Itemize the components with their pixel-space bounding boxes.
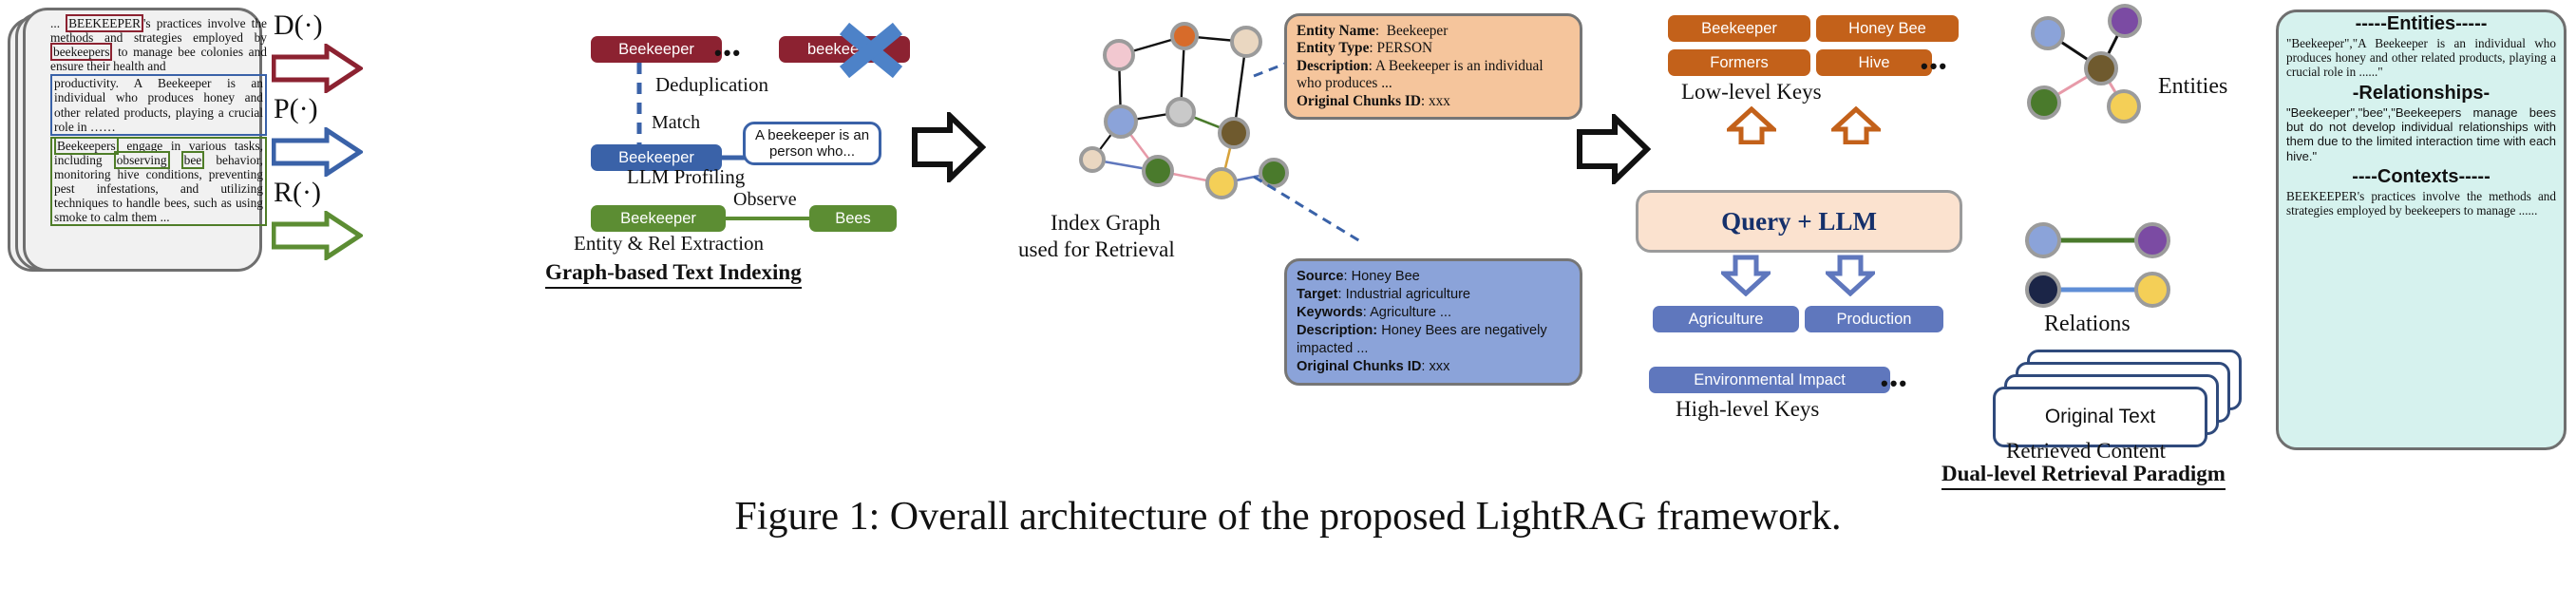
relation-card-source-key: Source: [1297, 269, 1343, 284]
relation-card-target-key: Target: [1297, 287, 1338, 302]
cross-out-icon: [836, 21, 906, 80]
relation-card-row-chunk: Original Chunks ID: xxx: [1297, 358, 1570, 376]
high-level-key-1: Production: [1805, 306, 1943, 332]
extract-relation-edge: [707, 213, 811, 224]
operator-label-profile: P(·): [274, 93, 318, 125]
relation-card-target-value: Industrial agriculture: [1346, 287, 1470, 302]
operator-label-dedup: D(·): [274, 9, 323, 42]
doc-text-seg-5: [170, 153, 181, 167]
relation-card-row-keywords: Keywords: Agriculture ...: [1297, 304, 1570, 322]
arrow-up-low-right: [1831, 106, 1881, 144]
entities-header: -----Entities-----: [2279, 13, 2564, 35]
high-level-keys-ellipsis: •••: [1881, 371, 1908, 396]
dedup-caption: Deduplication: [655, 73, 768, 97]
entity-card-name-key: Entity Name: [1297, 23, 1375, 39]
relationships-body: "Beekeeper","bee","Beekeepers manage bee…: [2279, 105, 2564, 164]
entity-card-row-name: Entity Name: Beekeeper: [1297, 23, 1570, 40]
retrieved-content-caption: Retrieved Content: [2006, 439, 2166, 464]
low-level-keys-ellipsis: •••: [1921, 54, 1948, 79]
arrow-down-high-right: [1826, 255, 1875, 296]
operator-label-extract: R(·): [274, 177, 321, 209]
callout-line-relation: [1250, 171, 1364, 247]
low-level-key-0: Beekeeper: [1668, 15, 1810, 42]
entities-body: "Beekeeper","A Beekeeper is an individua…: [2279, 36, 2564, 80]
arrow-down-high-left: [1721, 255, 1771, 296]
index-graph-caption-line1: Index Graph: [1051, 211, 1161, 236]
high-level-key-2: Environmental Impact: [1649, 367, 1890, 393]
entity-card-chunk-key: Original Chunks ID: [1297, 93, 1421, 109]
entity-card-row-desc: Description: A Beekeeper is an individua…: [1297, 58, 1570, 93]
arrow-dedup: [272, 44, 363, 93]
high-level-keys-caption: High-level Keys: [1676, 397, 1819, 422]
figure-caption: Figure 1: Overall architecture of the pr…: [0, 494, 2576, 540]
entity-info-card: Entity Name: Beekeeper Entity Type: PERS…: [1284, 13, 1582, 120]
low-level-key-1: Honey Bee: [1816, 15, 1959, 42]
entity-card-row-type: Entity Type: PERSON: [1297, 40, 1570, 57]
extraction-caption: Entity & Rel Extraction: [574, 232, 764, 256]
relation-info-card: Source: Honey Bee Target: Industrial agr…: [1284, 258, 1582, 386]
relation-card-keywords-key: Keywords: [1297, 305, 1363, 320]
high-level-key-0: Agriculture: [1653, 306, 1799, 332]
highlight-profile-block: productivity. A Beekeeper is an individu…: [50, 74, 267, 135]
doc-text-seg-1: ...: [50, 16, 66, 30]
source-document-stack: ... BEEKEEPER's practices involve the me…: [8, 8, 256, 270]
relation-card-keywords-value: Agriculture ...: [1370, 305, 1451, 320]
result-panel: -----Entities----- "Beekeeper","A Beekee…: [2276, 9, 2567, 450]
low-level-keys-caption: Low-level Keys: [1681, 80, 1822, 104]
entity-card-chunk-value: xxx: [1429, 93, 1450, 109]
relation-card-chunk-key: Original Chunks ID: [1297, 359, 1421, 374]
entity-card-desc-key: Description: [1297, 58, 1369, 74]
contexts-header: ----Contexts-----: [2279, 166, 2564, 188]
index-graph-caption-line2: used for Retrieval: [1018, 237, 1175, 262]
query-llm-box: Query + LLM: [1636, 190, 1962, 253]
relation-card-row-source: Source: Honey Bee: [1297, 268, 1570, 286]
arrow-extract: [272, 211, 363, 260]
relations-cluster-graph: [2004, 214, 2194, 318]
profiling-caption: LLM Profiling: [627, 165, 745, 189]
match-label: Match: [652, 112, 700, 134]
relation-card-desc-key: Description:: [1297, 323, 1377, 338]
profile-connector: [705, 152, 747, 163]
section-title-indexing: Graph-based Text Indexing: [545, 260, 802, 289]
arrow-to-retrieval: [1577, 114, 1651, 184]
entity-card-name-value: Beekeeper: [1387, 23, 1449, 39]
relations-caption: Relations: [2044, 312, 2131, 337]
document-front-page: ... BEEKEEPER's practices involve the me…: [23, 8, 262, 272]
match-dashed-line: [635, 63, 644, 156]
relation-card-source-value: Honey Bee: [1352, 269, 1420, 284]
entity-card-type-value: PERSON: [1376, 40, 1432, 56]
section-title-retrieval: Dual-level Retrieval Paradigm: [1941, 462, 2226, 490]
extract-source-entity: Beekeeper: [591, 205, 726, 232]
document-text: ... BEEKEEPER's practices involve the me…: [50, 16, 267, 265]
figure-root: ... BEEKEEPER's practices involve the me…: [0, 0, 2576, 606]
extract-relation-label: Observe: [733, 189, 797, 211]
relationships-header: -Relationships-: [2279, 83, 2564, 104]
arrow-to-index-graph: [912, 112, 986, 182]
entities-caption: Entities: [2158, 74, 2227, 100]
relation-card-row-target: Target: Industrial agriculture: [1297, 286, 1570, 304]
entities-cluster-graph: [2004, 0, 2185, 138]
relation-card-chunk-value: xxx: [1429, 359, 1449, 374]
relation-card-row-desc: Description: Honey Bees are negatively i…: [1297, 322, 1570, 358]
profile-description-bubble: A beekeeper is an person who...: [743, 122, 881, 165]
highlight-relation-block: Beekeepers engage in various tasks, incl…: [50, 137, 267, 227]
arrow-profile: [272, 127, 363, 177]
arrow-up-low-left: [1727, 106, 1776, 144]
contexts-body: BEEKEEPER's practices involve the method…: [2279, 189, 2564, 218]
low-level-key-2: Formers: [1668, 49, 1810, 76]
dedup-ellipsis: •••: [714, 41, 742, 66]
dedup-entity-a: Beekeeper: [591, 36, 722, 63]
entity-card-type-key: Entity Type: [1297, 40, 1369, 56]
extract-target-entity: Bees: [809, 205, 897, 232]
entity-card-row-chunk: Original Chunks ID: xxx: [1297, 93, 1570, 110]
low-level-key-3: Hive: [1816, 49, 1932, 76]
